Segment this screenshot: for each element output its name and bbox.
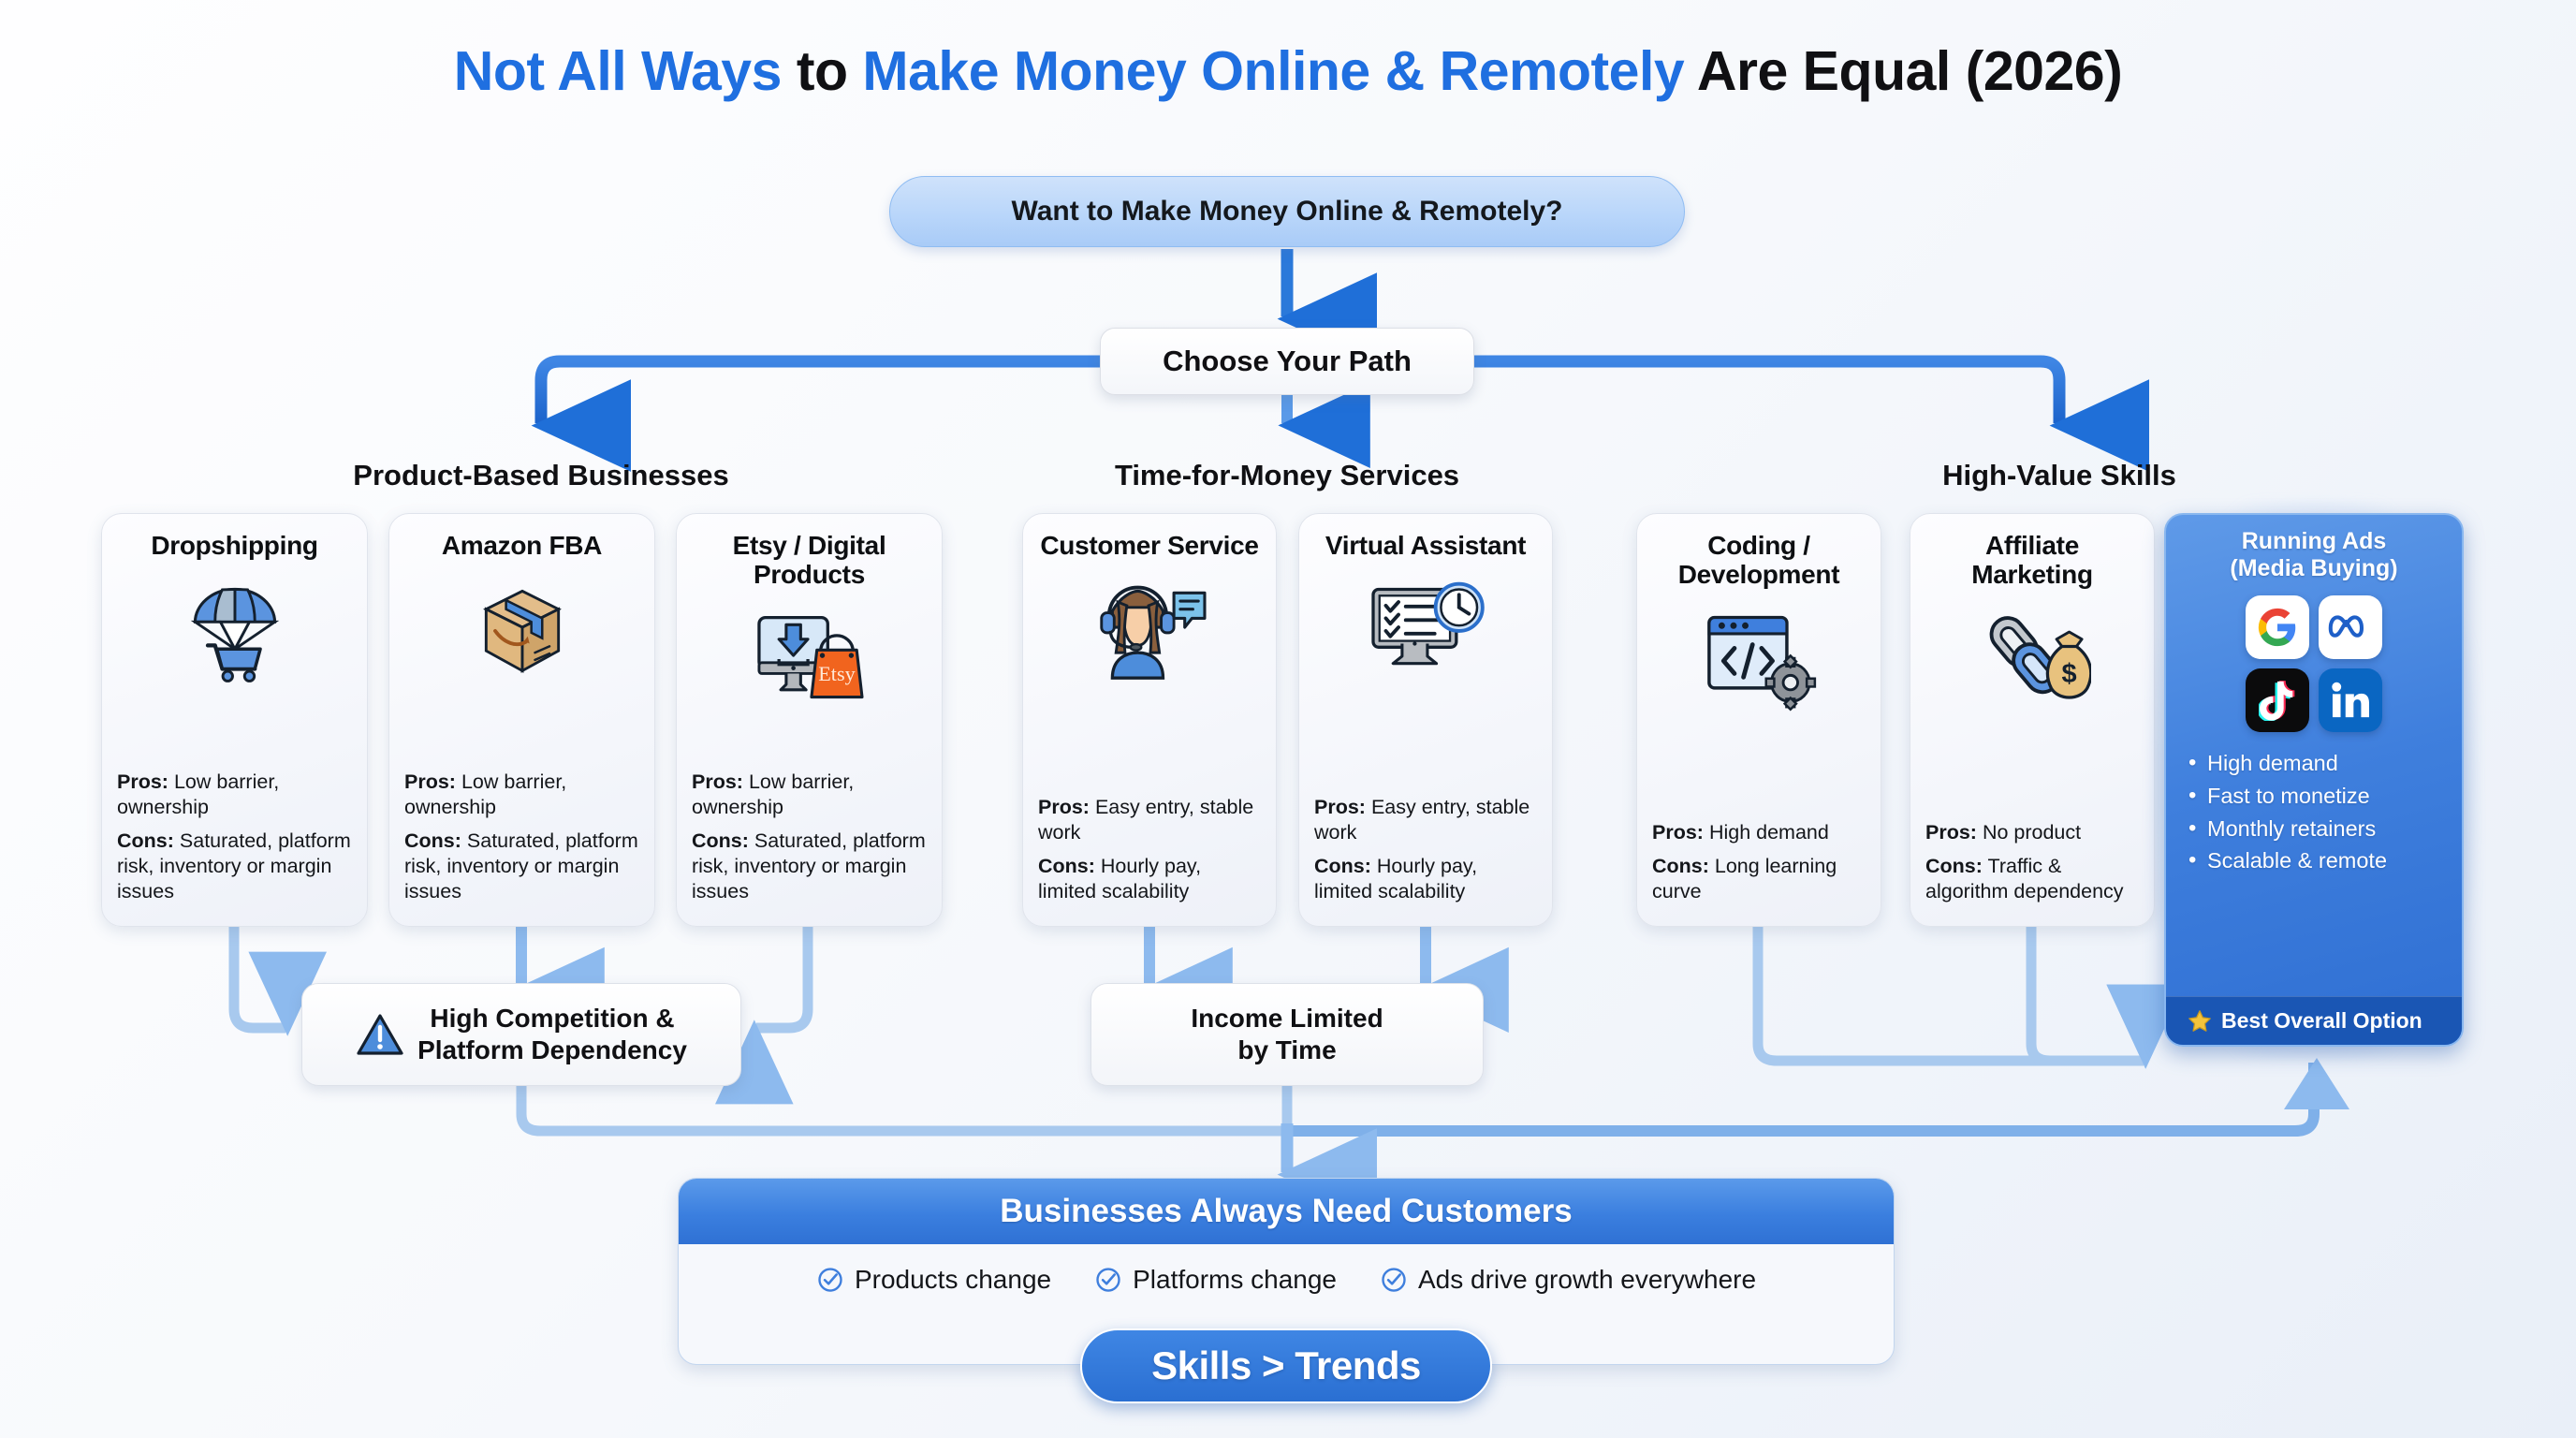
best-overall-label: Best Overall Option [2221, 1008, 2422, 1034]
list-item: Monthly retainers [2187, 813, 2462, 845]
card-body: Pros: Low barrier, ownership Cons: Satur… [117, 770, 352, 913]
cons-label: Cons: [1314, 855, 1371, 877]
option-card-coding-development[interactable]: Coding / Development [1636, 513, 1881, 927]
option-card-etsy-digital[interactable]: Etsy / Digital Products Etsy Pros: Low b… [676, 513, 943, 927]
linkedin-logo-icon[interactable] [2319, 668, 2382, 732]
headset-agent-chat-icon [1090, 571, 1208, 687]
flow-decision-label: Choose Your Path [1163, 345, 1412, 378]
outcome-high-competition[interactable]: High Competition & Platform Dependency [301, 983, 741, 1086]
highlight-title-line-1: Running Ads [2166, 528, 2462, 555]
check-circle-icon [1094, 1266, 1122, 1294]
outcome-line-1: Income Limited [1191, 1003, 1383, 1034]
card-body: Pros: No product Cons: Traffic & algorit… [1925, 820, 2139, 913]
card-title: Etsy / Digital Products [692, 531, 927, 590]
branch-header-product: Product-Based Businesses [300, 459, 783, 492]
flow-start-node[interactable]: Want to Make Money Online & Remotely? [889, 176, 1685, 247]
pros-label: Pros: [404, 770, 456, 793]
infographic-canvas: Not All Ways to Make Money Online & Remo… [0, 0, 2576, 1438]
summary-check-list: Products change Platforms change Ads dri… [679, 1244, 1894, 1295]
monitor-checklist-clock-icon [1366, 571, 1486, 687]
tiktok-logo-icon[interactable] [2246, 668, 2309, 732]
check-label: Platforms change [1133, 1265, 1337, 1295]
check-label: Ads drive growth everywhere [1418, 1265, 1756, 1295]
list-item: Platforms change [1094, 1265, 1337, 1295]
card-body: Pros: Low barrier, ownership Cons: Satur… [692, 770, 927, 913]
check-circle-icon [816, 1266, 844, 1294]
meta-logo-icon[interactable] [2319, 595, 2382, 659]
card-title: Affiliate Marketing [1925, 531, 2139, 590]
google-logo-icon[interactable] [2246, 595, 2309, 659]
summary-banner-heading: Businesses Always Need Customers [679, 1179, 1894, 1244]
ad-platform-logo-grid [2246, 595, 2382, 732]
list-item: Fast to monetize [2187, 780, 2462, 813]
list-item: High demand [2187, 747, 2462, 780]
option-card-affiliate-marketing[interactable]: Affiliate Marketing $ Pros: No product C… [1910, 513, 2155, 927]
highlight-title: Running Ads (Media Buying) [2166, 528, 2462, 582]
cons-label: Cons: [1038, 855, 1095, 877]
cons-label: Cons: [1925, 855, 1983, 877]
flow-decision-node[interactable]: Choose Your Path [1100, 328, 1474, 395]
highlight-card-running-ads[interactable]: Running Ads (Media Buying) [2164, 513, 2464, 1047]
pros-text: High demand [1704, 821, 1829, 844]
parachute-shopping-cart-icon [181, 571, 289, 687]
title-part-3: Make Money Online & Remotely [862, 40, 1684, 102]
svg-text:Etsy: Etsy [818, 662, 855, 685]
monitor-download-etsy-bag-icon: Etsy [750, 601, 870, 717]
pros-text: No product [1977, 821, 2081, 844]
option-card-virtual-assistant[interactable]: Virtual Assistant Pros: Easy entry, stab… [1298, 513, 1553, 927]
branch-header-label: Time-for-Money Services [1115, 459, 1459, 492]
star-icon [2187, 1008, 2213, 1034]
best-overall-badge: Best Overall Option [2166, 996, 2462, 1045]
title-part-4: Are Equal (2026) [1684, 40, 2122, 102]
card-body: Pros: High demand Cons: Long learning cu… [1652, 820, 1866, 913]
highlight-benefit-list: High demand Fast to monetize Monthly ret… [2187, 747, 2462, 877]
svg-text:$: $ [2062, 659, 2077, 689]
outcome-income-limited[interactable]: Income Limited by Time [1090, 983, 1484, 1086]
chain-link-money-bag-icon: $ [1973, 601, 2091, 717]
skills-pill-label: Skills > Trends [1151, 1343, 1421, 1388]
pros-label: Pros: [117, 770, 168, 793]
check-label: Products change [855, 1265, 1051, 1295]
option-card-dropshipping[interactable]: Dropshipping Pros: Low barrier, ownershi… [101, 513, 368, 927]
highlight-title-line-2: (Media Buying) [2166, 555, 2462, 582]
warning-triangle-icon [356, 1010, 404, 1059]
branch-header-label: Product-Based Businesses [353, 459, 728, 492]
option-card-customer-service[interactable]: Customer Service Pros: Easy entry, stabl… [1022, 513, 1277, 927]
outcome-line-2: by Time [1191, 1034, 1383, 1066]
title-part-1: Not All Ways [454, 40, 782, 102]
summary-banner: Businesses Always Need Customers Product… [678, 1178, 1895, 1365]
card-title: Dropshipping [151, 531, 317, 560]
pros-label: Pros: [692, 770, 743, 793]
branch-header-services: Time-for-Money Services [1046, 459, 1529, 492]
pros-label: Pros: [1314, 796, 1366, 818]
list-item: Ads drive growth everywhere [1380, 1265, 1756, 1295]
cons-label: Cons: [404, 829, 461, 852]
cons-label: Cons: [1652, 855, 1709, 877]
cons-label: Cons: [692, 829, 749, 852]
card-body: Pros: Easy entry, stable work Cons: Hour… [1314, 795, 1537, 913]
page-title: Not All Ways to Make Money Online & Remo… [0, 39, 2576, 103]
skills-over-trends-pill[interactable]: Skills > Trends [1080, 1328, 1492, 1403]
check-circle-icon [1380, 1266, 1408, 1294]
branch-header-skills: High-Value Skills [1818, 459, 2301, 492]
card-body: Pros: Low barrier, ownership Cons: Satur… [404, 770, 639, 913]
card-title: Coding / Development [1652, 531, 1866, 590]
option-card-amazon-fba[interactable]: Amazon FBA Pros: Low barrier, ownership … [388, 513, 655, 927]
card-body: Pros: Easy entry, stable work Cons: Hour… [1038, 795, 1261, 913]
outcome-text: High Competition & Platform Dependency [417, 1003, 687, 1065]
pros-label: Pros: [1925, 821, 1977, 844]
outcome-line-1: High Competition & [417, 1003, 687, 1034]
outcome-text: Income Limited by Time [1191, 1003, 1383, 1065]
card-title: Amazon FBA [442, 531, 602, 560]
outcome-line-2: Platform Dependency [417, 1034, 687, 1066]
list-item: Scalable & remote [2187, 844, 2462, 877]
card-title: Virtual Assistant [1325, 531, 1526, 560]
cardboard-box-icon [468, 571, 577, 687]
branch-header-label: High-Value Skills [1942, 459, 2176, 492]
pros-label: Pros: [1652, 821, 1704, 844]
flow-start-label: Want to Make Money Online & Remotely? [1012, 196, 1563, 227]
pros-label: Pros: [1038, 796, 1090, 818]
cons-label: Cons: [117, 829, 174, 852]
list-item: Products change [816, 1265, 1051, 1295]
summary-heading-label: Businesses Always Need Customers [1000, 1193, 1572, 1230]
card-title: Customer Service [1040, 531, 1258, 560]
title-part-2: to [782, 40, 862, 102]
code-window-gear-icon [1700, 601, 1818, 717]
